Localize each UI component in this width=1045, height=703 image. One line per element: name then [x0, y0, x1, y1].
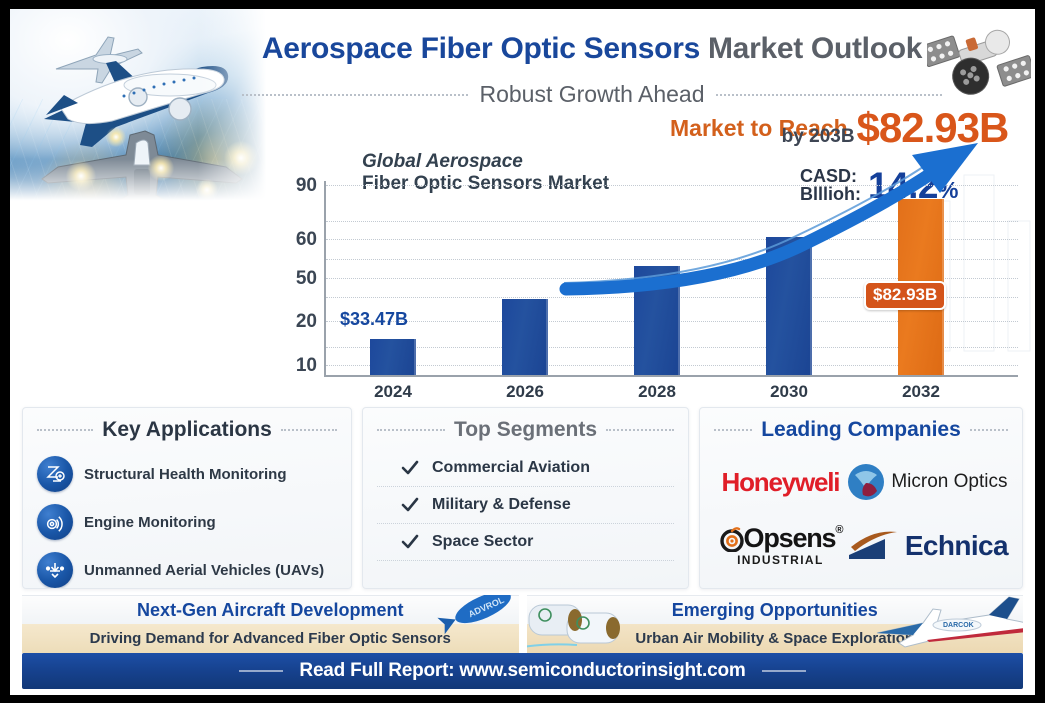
- company-logo-grid: Honeyweli Micron Optics: [714, 450, 1008, 578]
- x-tick-label: 2024: [374, 382, 412, 402]
- divider-right: [606, 429, 674, 431]
- page-subtitle: Robust Growth Ahead: [479, 81, 704, 108]
- company-name-sub: INDUSTRIAL: [719, 553, 843, 567]
- panel-header: Key Applications: [37, 418, 337, 442]
- divider-left: [377, 429, 445, 431]
- market-chart: Global Aerospace Fiber Optic Sensors Mar…: [278, 141, 1020, 403]
- divider-left: [242, 94, 468, 96]
- title-rest: Market Outlook: [700, 32, 922, 65]
- divider-right: [716, 94, 942, 96]
- list-item[interactable]: Structural Health Monitoring: [37, 450, 337, 498]
- rocket-icon: ADVROL: [433, 595, 519, 635]
- panel-header: Leading Companies: [714, 418, 1008, 442]
- banner-subline-text: Driving Demand for Advanced Fiber Optic …: [90, 630, 451, 647]
- chart-bar: 2026: [502, 299, 548, 375]
- x-tick-label: 2030: [770, 382, 808, 402]
- page-title: Aerospace Fiber Optic Sensors Market Out…: [242, 33, 942, 65]
- gridline: 90: [326, 185, 1018, 186]
- panel-key-applications: Key Applications Structural Health Monit…: [22, 407, 352, 589]
- application-label: Structural Health Monitoring: [84, 466, 287, 483]
- structural-health-icon: [37, 456, 73, 492]
- panel-leading-companies: Leading Companies Honeyweli Micron Optic…: [699, 407, 1023, 589]
- banner-emerging-opportunities[interactable]: Emerging Opportunities Urban Air Mobilit…: [527, 595, 1024, 653]
- company-logo-opsens[interactable]: Opsens ® INDUSTRIAL: [719, 525, 843, 567]
- satellite-icon: [927, 15, 1031, 111]
- check-icon: [401, 459, 419, 477]
- check-icon: [401, 496, 419, 514]
- title-highlight: Aerospace Fiber Optic Sensors: [262, 32, 700, 65]
- list-item[interactable]: Engine Monitoring: [37, 498, 337, 546]
- light-flare: [106, 127, 126, 147]
- panel-title: Leading Companies: [761, 418, 961, 442]
- company-logo-echnica[interactable]: Echnica: [847, 529, 1008, 563]
- company-name: Opsens: [744, 525, 836, 552]
- footer-rule-right: [762, 670, 806, 672]
- company-name: Micron Optics: [891, 471, 1007, 493]
- segment-label: Space Sector: [432, 533, 533, 551]
- chart-bar: 2028: [634, 266, 680, 375]
- divider-right: [970, 429, 1008, 431]
- infographic-root: Aerospace Fiber Optic Sensors Market Out…: [0, 0, 1045, 703]
- company-logo-micron-optics[interactable]: Micron Optics: [847, 463, 1007, 501]
- application-label: Unmanned Aerial Vehicles (UAVs): [84, 562, 324, 579]
- panel-title: Top Segments: [454, 418, 597, 442]
- drone-icon: [37, 552, 73, 588]
- divider-left: [714, 429, 752, 431]
- bar-value-label-last: $82.93B: [864, 281, 946, 310]
- segment-label: Military & Defense: [432, 496, 571, 514]
- footer-rule-left: [239, 670, 283, 672]
- company-name: Echnica: [905, 530, 1008, 562]
- chart-title-line1: Global Aerospace: [362, 151, 609, 173]
- opsens-mark-icon: [719, 526, 745, 552]
- business-jet-icon: DARCOK: [869, 595, 1023, 653]
- footer-bar[interactable]: Read Full Report: www.semiconductorinsig…: [22, 653, 1023, 689]
- y-tick-label: 60: [296, 229, 317, 251]
- bar-value-label-first: $33.47B: [340, 309, 408, 330]
- company-logo-honeywell[interactable]: Honeyweli: [722, 467, 840, 498]
- application-label: Engine Monitoring: [84, 514, 216, 531]
- panel-title: Key Applications: [102, 418, 272, 442]
- subtitle-row: Robust Growth Ahead: [242, 81, 942, 108]
- chart-bar: 2024: [370, 339, 416, 375]
- echnica-mark-icon: [847, 529, 899, 563]
- check-icon: [401, 533, 419, 551]
- list-item[interactable]: Commercial Aviation: [377, 450, 674, 487]
- banner-next-gen-aircraft[interactable]: Next-Gen Aircraft Development Driving De…: [22, 595, 519, 653]
- list-item[interactable]: Unmanned Aerial Vehicles (UAVs): [37, 546, 337, 589]
- company-name: Honeyweli: [722, 467, 840, 498]
- list-item[interactable]: Space Sector: [377, 524, 674, 561]
- y-tick-label: 50: [296, 268, 317, 290]
- footer-link-text: Read Full Report: www.semiconductorinsig…: [299, 660, 745, 682]
- hero-aircraft-artwork: [10, 9, 272, 205]
- svg-text:DARCOK: DARCOK: [943, 622, 974, 629]
- bottom-banners: Next-Gen Aircraft Development Driving De…: [22, 595, 1023, 653]
- chart-plot-area: 90 60 50 20 10 2024 2026: [324, 181, 1018, 377]
- divider-left: [37, 429, 93, 431]
- list-item[interactable]: Military & Defense: [377, 487, 674, 524]
- divider-right: [281, 429, 337, 431]
- banner-headline-text: Next-Gen Aircraft Development: [137, 600, 403, 621]
- company-name-row: Opsens ®: [719, 525, 843, 552]
- panels-row: Key Applications Structural Health Monit…: [22, 407, 1023, 589]
- hero-fade-bottom: [10, 159, 272, 205]
- banner-headline-text: Emerging Opportunities: [672, 600, 878, 621]
- infographic-page: Aerospace Fiber Optic Sensors Market Out…: [10, 9, 1035, 695]
- chart-bar: 2030: [766, 237, 812, 375]
- x-tick-label: 2028: [638, 382, 676, 402]
- segment-label: Commercial Aviation: [432, 459, 590, 477]
- micron-optics-mark-icon: [847, 463, 885, 501]
- y-tick-label: 90: [296, 175, 317, 197]
- y-tick-label: 10: [296, 355, 317, 377]
- registered-mark: ®: [835, 525, 842, 536]
- sensor-modules-icon: [527, 595, 641, 653]
- y-tick-label: 20: [296, 311, 317, 333]
- panel-top-segments: Top Segments Commercial Aviation Militar…: [362, 407, 689, 589]
- engine-signal-icon: [37, 504, 73, 540]
- panel-header: Top Segments: [377, 418, 674, 442]
- x-tick-label: 2032: [902, 382, 940, 402]
- x-tick-label: 2026: [506, 382, 544, 402]
